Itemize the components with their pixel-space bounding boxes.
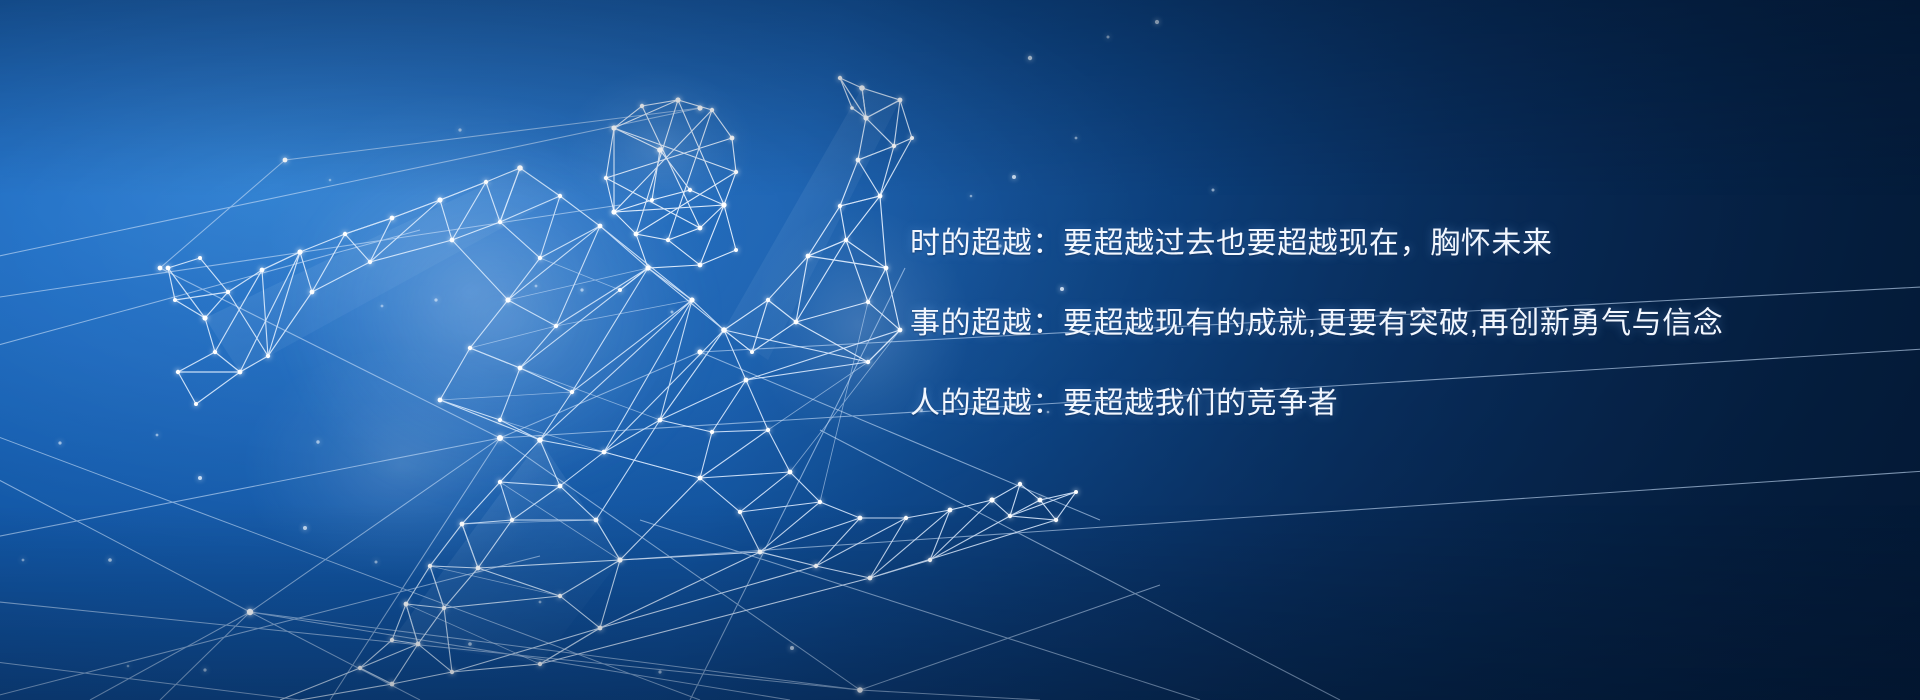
slogan-line-people: 人的超越：要超越我们的竞争者 — [910, 388, 1670, 420]
slogan-line-work: 事的超越：要超越现有的成就,更要有突破,再创新勇气与信念 — [910, 308, 1670, 340]
slogan-block: 时的超越：要超越过去也要超越现在，胸怀未来 事的超越：要超越现有的成就,更要有突… — [910, 228, 1670, 420]
slogan-line-time: 时的超越：要超越过去也要超越现在，胸怀未来 — [910, 228, 1670, 260]
hero-banner: 时的超越：要超越过去也要超越现在，胸怀未来 事的超越：要超越现有的成就,更要有突… — [0, 0, 1920, 700]
